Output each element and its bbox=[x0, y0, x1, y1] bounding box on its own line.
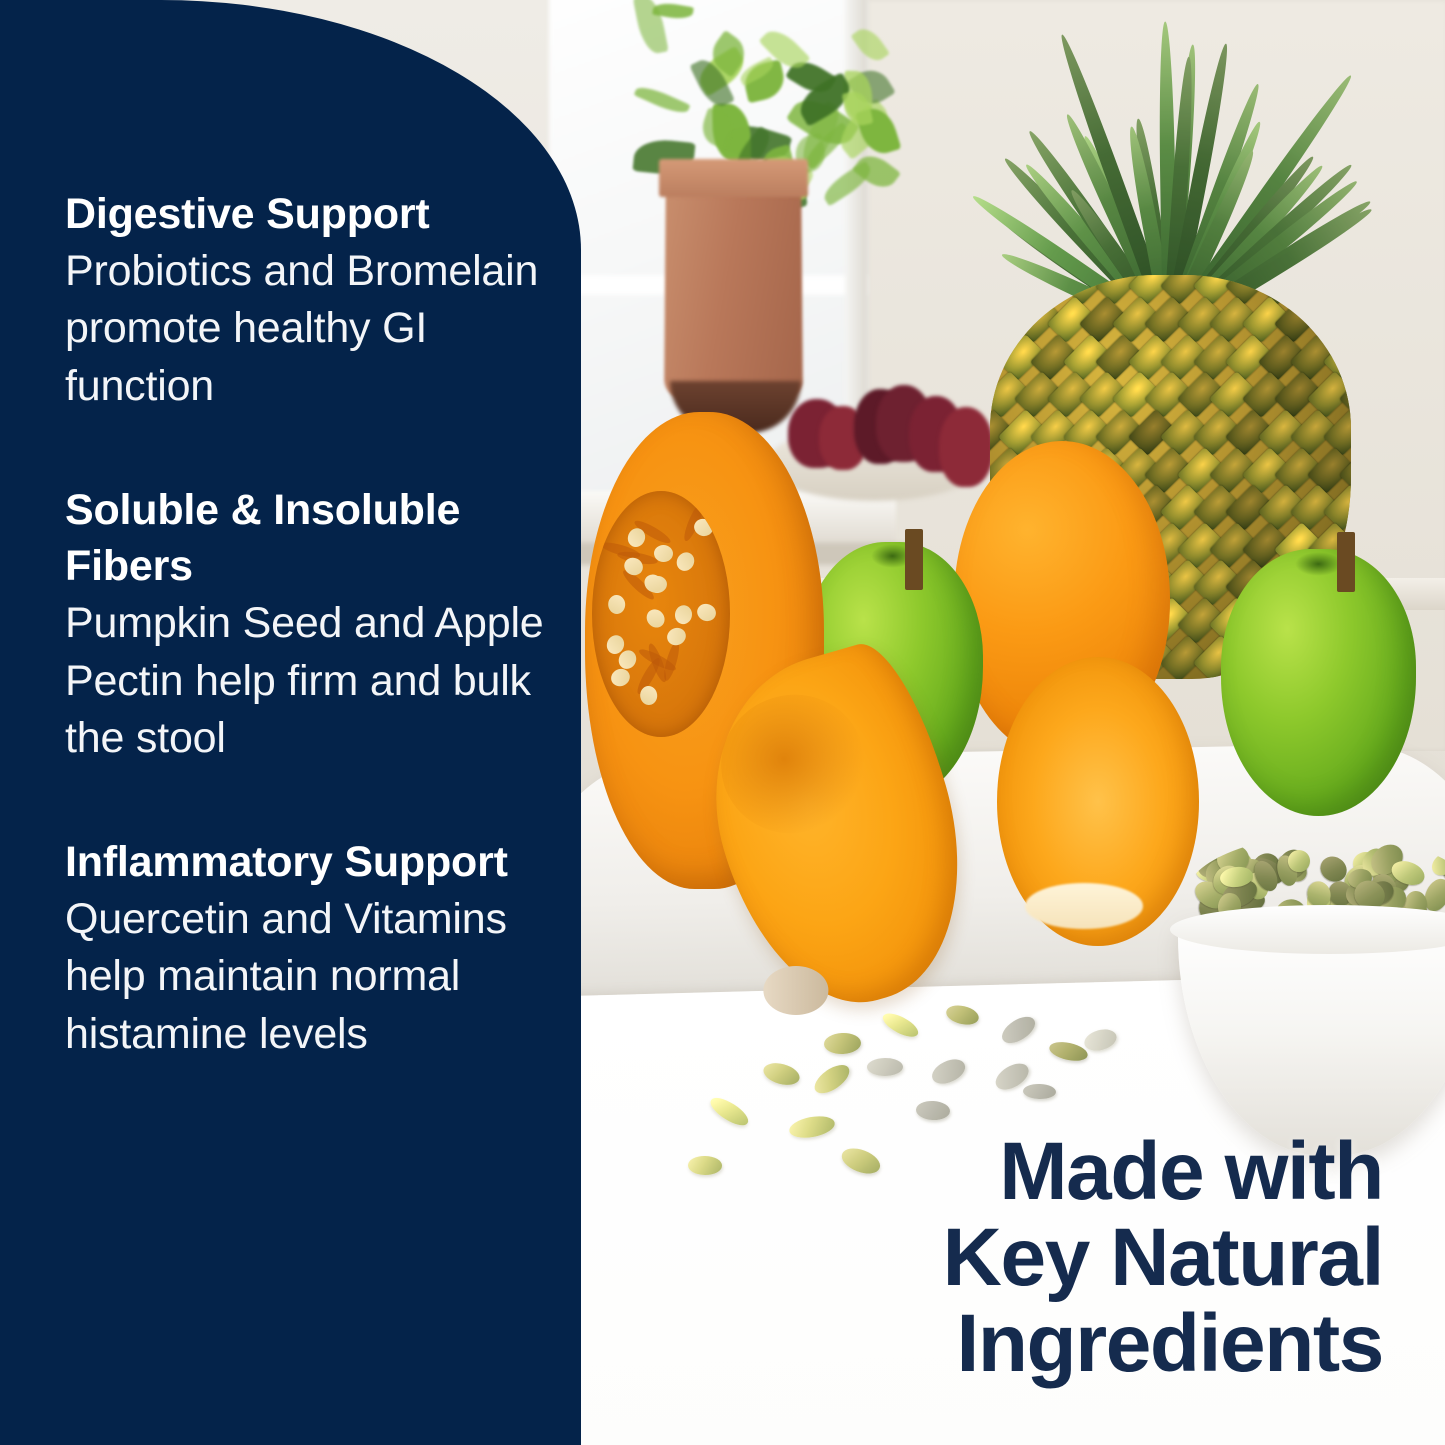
pumpkin-seed bbox=[788, 1113, 837, 1141]
pumpkin-seed bbox=[707, 1092, 752, 1129]
pumpkin-seed bbox=[867, 1058, 903, 1076]
pumpkin-seed bbox=[998, 1012, 1040, 1049]
pumpkin-seed bbox=[838, 1144, 883, 1178]
benefit-list: Digestive Support Probiotics and Bromela… bbox=[65, 0, 555, 1445]
benefit-body: Probiotics and Bromelain promote healthy… bbox=[65, 243, 555, 416]
pumpkin-seed bbox=[916, 1100, 950, 1121]
benefit-item: Soluble & Insoluble Fibers Pumpkin Seed … bbox=[65, 482, 555, 768]
poster: Digestive Support Probiotics and Bromela… bbox=[0, 0, 1445, 1445]
navy-info-panel: Digestive Support Probiotics and Bromela… bbox=[0, 0, 581, 1445]
pumpkin-seed bbox=[1082, 1026, 1120, 1055]
pumpkin-seed bbox=[810, 1060, 855, 1100]
headline-line-1: Made with bbox=[943, 1129, 1383, 1215]
pumpkin-seed bbox=[945, 1002, 981, 1027]
benefit-title: Inflammatory Support bbox=[65, 834, 555, 891]
benefit-item: Inflammatory Support Quercetin and Vitam… bbox=[65, 834, 555, 1064]
headline: Made with Key Natural Ingredients bbox=[943, 1129, 1383, 1387]
pumpkin-seed bbox=[880, 1009, 922, 1041]
pumpkin-seed bbox=[761, 1059, 802, 1088]
pumpkin-seed bbox=[823, 1032, 861, 1055]
benefit-title: Soluble & Insoluble Fibers bbox=[65, 482, 555, 596]
benefit-body: Quercetin and Vitamins help maintain nor… bbox=[65, 891, 555, 1064]
benefit-title: Digestive Support bbox=[65, 186, 555, 243]
headline-line-3: Ingredients bbox=[943, 1301, 1383, 1387]
pumpkin-seed bbox=[928, 1054, 969, 1088]
benefit-item: Digestive Support Probiotics and Bromela… bbox=[65, 186, 555, 416]
benefit-body: Pumpkin Seed and Apple Pectin help firm … bbox=[65, 595, 555, 768]
pumpkin-seed bbox=[688, 1156, 722, 1175]
pumpkin-seed bbox=[1023, 1083, 1056, 1099]
headline-line-2: Key Natural bbox=[943, 1215, 1383, 1301]
